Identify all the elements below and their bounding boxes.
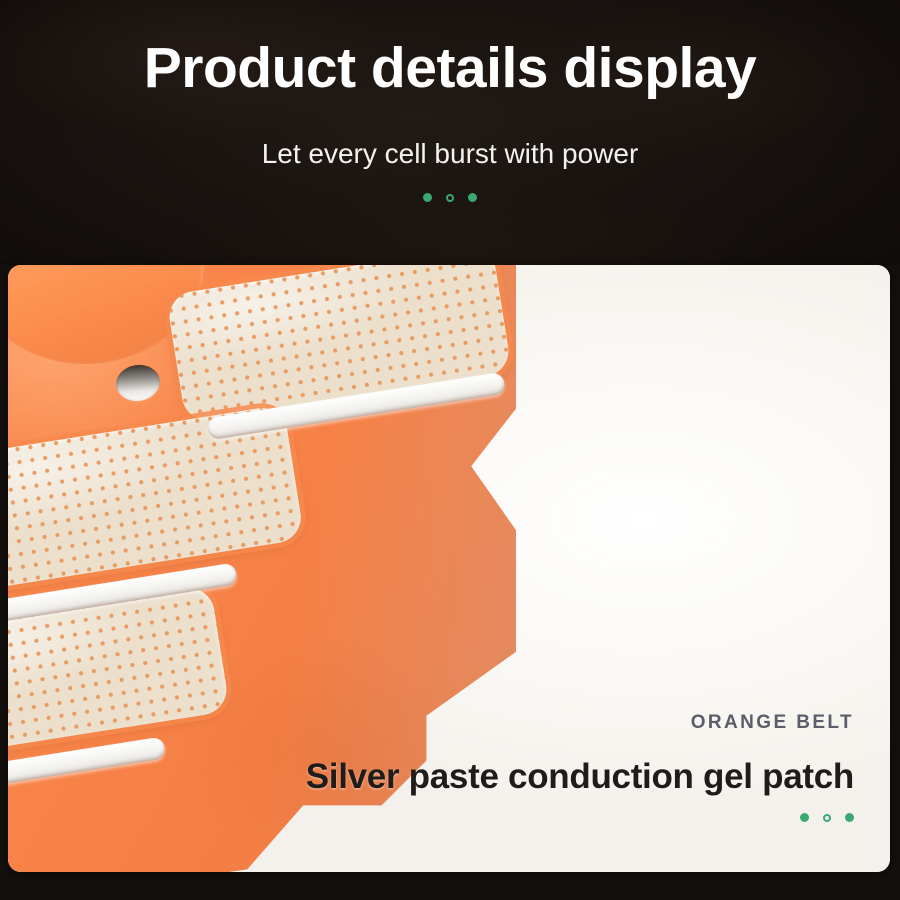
dot-indicator-1 xyxy=(800,813,809,822)
dot-indicator-1 xyxy=(423,193,432,202)
dot-indicator-2 xyxy=(446,194,454,202)
hero-dot-separator xyxy=(0,193,900,202)
dot-indicator-3 xyxy=(468,193,477,202)
page-subtitle: Let every cell burst with power xyxy=(0,140,900,168)
product-headline: Silver paste conduction gel patch xyxy=(8,757,854,797)
product-eyebrow-label: ORANGE BELT xyxy=(8,712,854,734)
page-title: Product details display xyxy=(0,40,900,97)
hero-banner: Product details display Let every cell b… xyxy=(0,0,900,265)
card-dot-separator xyxy=(8,813,854,822)
product-feature-card: ORANGE BELT Silver paste conduction gel … xyxy=(8,265,890,872)
dot-indicator-3 xyxy=(845,813,854,822)
product-details-page: Product details display Let every cell b… xyxy=(0,0,900,900)
dot-indicator-2 xyxy=(823,814,831,822)
